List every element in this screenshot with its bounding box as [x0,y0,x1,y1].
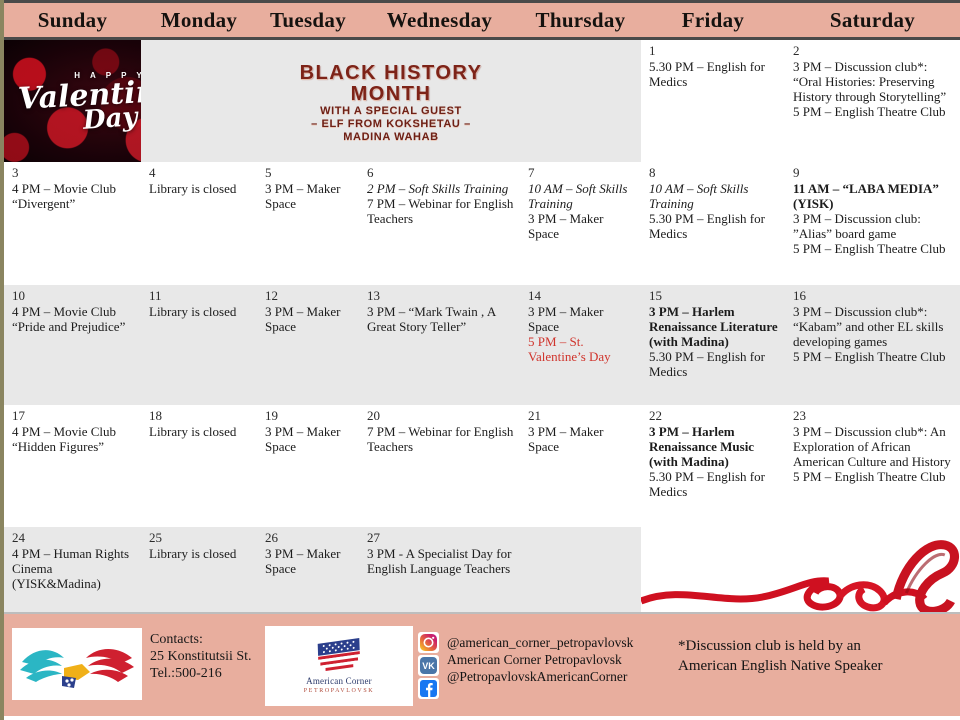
day-number: 22 [649,409,779,423]
day-cell-4[interactable]: 4Library is closed [141,162,257,285]
calendar-grid: H A P P YValentine'sDayBLACK HISTORYMONT… [4,40,960,612]
day-number: 6 [367,166,514,180]
bhm-line-3: WITH A SPECIAL GUEST [320,105,462,118]
calendar-week-row: 34 PM – Movie Club “Divergent”4Library i… [4,162,960,285]
day-cell-11[interactable]: 11Library is closed [141,285,257,405]
day-number: 25 [149,531,251,545]
black-history-month-banner: BLACK HISTORYMONTHWITH A SPECIAL GUEST– … [141,40,641,162]
contacts-address: 25 Konstitutsii St. [150,648,252,665]
day-cell-15[interactable]: 153 PM – Harlem Renaissance Literature (… [641,285,785,405]
event-text: 3 PM – Maker Space [265,424,353,454]
vk-icon[interactable]: VK [418,655,439,676]
event-text: 5 PM – English Theatre Club [793,104,954,119]
day-number: 9 [793,166,954,180]
event-text: 5 PM – St. Valentine’s Day [528,334,635,364]
event-text: Library is closed [149,304,251,319]
contacts-block: Contacts: 25 Konstitutsii St. Tel.:500-2… [150,631,252,682]
day-cell-6[interactable]: 62 PM – Soft Skills Training7 PM – Webin… [359,162,520,285]
event-text: 3 PM – “Mark Twain , A Great Story Telle… [367,304,514,334]
event-text: 3 PM – Harlem Renaissance Music (with Ma… [649,424,779,469]
day-of-week-saturday: Saturday [785,8,960,33]
day-number: 11 [149,289,251,303]
event-text: Library is closed [149,546,251,561]
event-text: 4 PM – Movie Club “Hidden Figures” [12,424,135,454]
vk-handle[interactable]: American Corner Petropavlovsk [447,651,633,668]
day-of-week-sunday: Sunday [4,8,141,33]
day-number: 7 [528,166,635,180]
day-number: 15 [649,289,779,303]
instagram-icon[interactable] [418,632,439,653]
day-cell-9[interactable]: 911 AM – “LABA MEDIA” (YISK)3 PM – Discu… [785,162,960,285]
day-number: 4 [149,166,251,180]
day-of-week-header: SundayMondayTuesdayWednesdayThursdayFrid… [4,0,960,40]
day-cell-3[interactable]: 34 PM – Movie Club “Divergent” [4,162,141,285]
event-text: 10 AM – Soft Skills Training [649,181,779,211]
day-cell-1[interactable]: 15.30 PM – English for Medics [641,40,785,162]
day-cell-12[interactable]: 123 PM – Maker Space [257,285,359,405]
event-text: 11 AM – “LABA MEDIA” (YISK) [793,181,954,211]
discussion-club-disclaimer: *Discussion club is held by an American … [678,636,883,676]
day-cell-14[interactable]: 143 PM – Maker Space5 PM – St. Valentine… [520,285,641,405]
event-text: 5.30 PM – English for Medics [649,349,779,379]
day-number: 16 [793,289,954,303]
event-text: Library is closed [149,424,251,439]
footer: Contacts: 25 Konstitutsii St. Tel.:500-2… [4,612,960,716]
event-text: 5 PM – English Theatre Club [793,469,954,484]
day-number: 21 [528,409,635,423]
event-text: 3 PM – Maker Space [528,424,635,454]
contacts-label: Contacts: [150,631,252,648]
svg-text:VK: VK [422,661,435,671]
event-text: 3 PM – Maker Space [265,181,353,211]
event-text: 4 PM – Human Rights Cinema (YISK&Madina) [12,546,135,591]
facebook-icon[interactable] [418,678,439,699]
day-of-week-wednesday: Wednesday [359,8,520,33]
instagram-handle[interactable]: @american_corner_petropavlovsk [447,634,633,651]
day-cell-17[interactable]: 174 PM – Movie Club “Hidden Figures” [4,405,141,527]
day-of-week-friday: Friday [641,8,785,33]
day-number: 17 [12,409,135,423]
event-text: 4 PM – Movie Club “Pride and Prejudice” [12,304,135,334]
day-cell-27[interactable]: 273 PM - A Specialist Day for English La… [359,527,520,612]
bhm-line-5: MADINA WAHAB [343,131,438,144]
bhm-line-2: MONTH [351,84,432,105]
valentine-day-text: Day [82,104,138,134]
day-number: 2 [793,44,954,58]
event-text: 3 PM – Harlem Renaissance Literature (wi… [649,304,779,349]
event-text: 3 PM – Discussion club*: “Kabam” and oth… [793,304,954,349]
day-number: 10 [12,289,135,303]
event-text: Library is closed [149,181,251,196]
event-text: 3 PM – Discussion club*: “Oral Histories… [793,59,954,104]
red-ribbon-hearts-image [641,527,960,612]
day-number: 14 [528,289,635,303]
event-text: 5.30 PM – English for Medics [649,211,779,241]
day-number: 3 [12,166,135,180]
american-eagle-logo-icon [12,628,142,700]
day-of-week-tuesday: Tuesday [257,8,359,33]
day-number: 24 [12,531,135,545]
bhm-line-4: – ELF FROM KOKSHETAU – [311,118,471,131]
day-number: 12 [265,289,353,303]
day-cell-26[interactable]: 263 PM – Maker Space [257,527,359,612]
day-cell-8[interactable]: 810 AM – Soft Skills Training5.30 PM – E… [641,162,785,285]
day-number: 13 [367,289,514,303]
day-cell-16[interactable]: 163 PM – Discussion club*: “Kabam” and o… [785,285,960,405]
day-number: 1 [649,44,779,58]
social-handles: @american_corner_petropavlovsk American … [447,634,633,685]
event-text: 3 PM – Maker Space [265,304,353,334]
empty-cell [520,527,641,612]
day-number: 27 [367,531,514,545]
day-cell-19[interactable]: 193 PM – Maker Space [257,405,359,527]
event-text: 3 PM – Discussion club*: An Exploration … [793,424,954,469]
bhm-line-1: BLACK HISTORY [300,63,483,84]
day-number: 20 [367,409,514,423]
day-cell-25[interactable]: 25Library is closed [141,527,257,612]
day-cell-10[interactable]: 104 PM – Movie Club “Pride and Prejudice… [4,285,141,405]
calendar-week-row: 244 PM – Human Rights Cinema (YISK&Madin… [4,527,960,612]
event-text: 3 PM – Maker Space [528,304,635,334]
american-corner-title: American Corner [306,676,372,686]
disclaimer-line-2: American English Native Speaker [678,656,883,676]
day-number: 5 [265,166,353,180]
day-cell-23[interactable]: 233 PM – Discussion club*: An Exploratio… [785,405,960,527]
event-text: 2 PM – Soft Skills Training [367,181,514,196]
event-text: 3 PM – Maker Space [265,546,353,576]
day-cell-18[interactable]: 18Library is closed [141,405,257,527]
day-of-week-monday: Monday [141,8,257,33]
day-cell-2[interactable]: 23 PM – Discussion club*: “Oral Historie… [785,40,960,162]
day-number: 18 [149,409,251,423]
american-flag-icon [316,635,363,676]
event-text: 3 PM – Discussion club: ”Alias” board ga… [793,211,954,241]
event-text: 7 PM – Webinar for English Teachers [367,196,514,226]
day-cell-20[interactable]: 207 PM – Webinar for English Teachers [359,405,520,527]
calendar-page: SundayMondayTuesdayWednesdayThursdayFrid… [0,0,960,720]
event-text: 10 AM – Soft Skills Training [528,181,635,211]
american-corner-city: PETROPAVLOVSK [304,688,374,694]
social-icons: VK [418,632,440,701]
american-corner-logo: American Corner PETROPAVLOVSK [265,626,413,706]
event-text: 5.30 PM – English for Medics [649,469,779,499]
event-text: 5.30 PM – English for Medics [649,59,779,89]
day-number: 8 [649,166,779,180]
event-text: 4 PM – Movie Club “Divergent” [12,181,135,211]
day-cell-7[interactable]: 710 AM – Soft Skills Training3 PM – Make… [520,162,641,285]
day-cell-24[interactable]: 244 PM – Human Rights Cinema (YISK&Madin… [4,527,141,612]
calendar-week-row: H A P P YValentine'sDayBLACK HISTORYMONT… [4,40,960,162]
event-text: 7 PM – Webinar for English Teachers [367,424,514,454]
day-of-week-thursday: Thursday [520,8,641,33]
day-cell-21[interactable]: 213 PM – Maker Space [520,405,641,527]
event-text: 5 PM – English Theatre Club [793,241,954,256]
event-text: 5 PM – English Theatre Club [793,349,954,364]
calendar-week-row: 104 PM – Movie Club “Pride and Prejudice… [4,285,960,405]
disclaimer-line-1: *Discussion club is held by an [678,636,883,656]
day-number: 26 [265,531,353,545]
day-cell-5[interactable]: 53 PM – Maker Space [257,162,359,285]
event-text: 3 PM - A Specialist Day for English Lang… [367,546,514,576]
day-cell-22[interactable]: 223 PM – Harlem Renaissance Music (with … [641,405,785,527]
valentines-day-banner: H A P P YValentine'sDay [4,40,141,162]
day-cell-13[interactable]: 133 PM – “Mark Twain , A Great Story Tel… [359,285,520,405]
contacts-phone: Tel.:500-216 [150,665,252,682]
day-number: 23 [793,409,954,423]
calendar-week-row: 174 PM – Movie Club “Hidden Figures”18Li… [4,405,960,527]
facebook-handle[interactable]: @PetropavlovskAmericanCorner [447,668,633,685]
event-text: 3 PM – Maker Space [528,211,635,241]
day-number: 19 [265,409,353,423]
